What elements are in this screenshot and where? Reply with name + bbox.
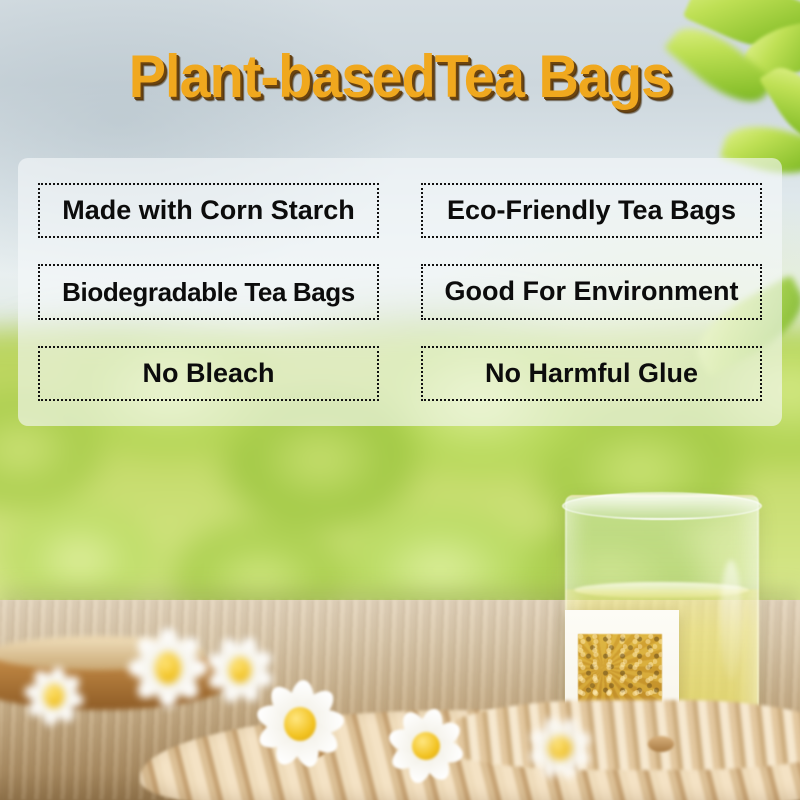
basket-knot [648,736,674,752]
feature-item-eco-friendly: Eco-Friendly Tea Bags [421,183,762,238]
daisy-flower [380,700,472,792]
feature-item-biodegradable: Biodegradable Tea Bags [38,264,379,319]
feature-item-corn-starch: Made with Corn Starch [38,183,379,238]
daisy-flower [520,708,600,788]
feature-label: No Harmful Glue [485,360,698,387]
feature-label: Eco-Friendly Tea Bags [447,197,736,224]
feature-item-no-bleach: No Bleach [38,346,379,401]
daisy-flower [18,660,90,732]
product-infographic: Plant-basedTea Bags Made with Corn Starc… [0,0,800,800]
feature-label: No Bleach [142,360,274,387]
feature-item-environment: Good For Environment [421,264,762,319]
glass-highlight [720,560,742,680]
feature-item-no-glue: No Harmful Glue [421,346,762,401]
glass-rim [562,492,762,520]
feature-label: Biodegradable Tea Bags [62,279,355,305]
page-title: Plant-basedTea Bags [28,44,772,110]
feature-label: Good For Environment [445,278,739,305]
woven-straw-basket-secondary [430,700,800,770]
feature-label: Made with Corn Starch [62,197,355,224]
daisy-flower [248,672,352,776]
feature-grid: Made with Corn Starch Eco-Friendly Tea B… [18,158,782,426]
